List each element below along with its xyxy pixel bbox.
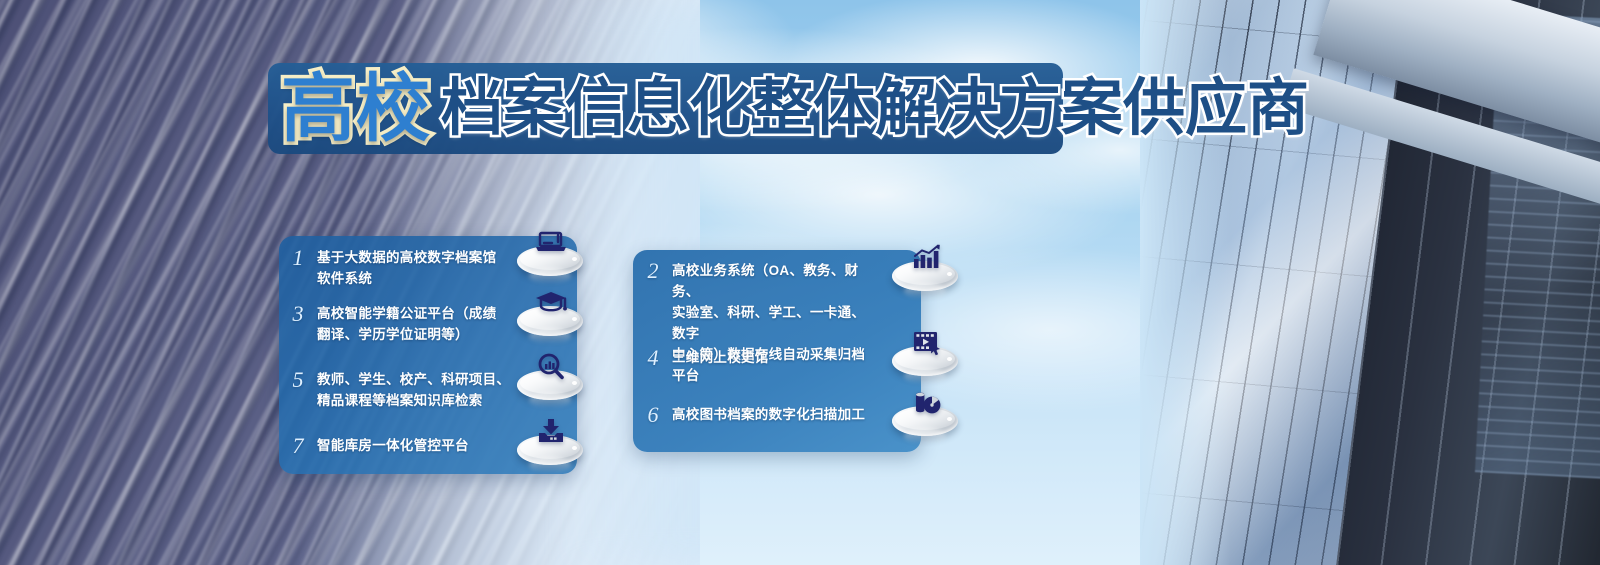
icon-plate-shine (572, 381, 577, 385)
item-label: 高校图书档案的数字化扫描加工 (672, 404, 865, 425)
icon-plate-reflection (904, 368, 946, 384)
film-play-cursor-glyph (909, 328, 943, 358)
video-play-click-icon[interactable] (892, 328, 958, 380)
icon-plate-shine (572, 317, 577, 321)
bar-chart-arrow-glyph (909, 243, 943, 273)
laptop-glyph (534, 228, 568, 258)
item-label: 三维网上校史馆 (672, 347, 769, 368)
scanner-copier-glyph (909, 388, 943, 418)
icon-plate-shine (572, 446, 577, 450)
item-number: 4 (645, 347, 661, 368)
item-number: 6 (645, 404, 661, 425)
item-label: 基于大数据的高校数字档案馆 软件系统 (317, 247, 496, 289)
title-rest: 档案信息化整体解决方案供应商 (441, 66, 1309, 152)
item-label: 教师、学生、校产、科研项目、 精品课程等档案知识库检索 (317, 369, 510, 411)
icon-plate-reflection (529, 328, 571, 344)
item-number: 7 (290, 435, 306, 456)
icon-plate-shine (947, 272, 952, 276)
item-label: 智能库房一体化管控平台 (317, 435, 469, 456)
icon-plate-reflection (529, 457, 571, 473)
item-label: 高校智能学籍公证平台（成绩 翻译、学历学位证明等） (317, 303, 496, 345)
list-item[interactable]: 1 基于大数据的高校数字档案馆 软件系统 (290, 247, 505, 289)
magnifier-bar-chart-glyph (534, 352, 568, 382)
icon-plate-shine (572, 257, 577, 261)
item-number: 1 (290, 247, 306, 268)
bar-chart-growth-icon[interactable] (892, 243, 958, 295)
icon-plate-reflection (904, 428, 946, 444)
list-item[interactable]: 6 高校图书档案的数字化扫描加工 (645, 404, 873, 425)
icon-plate-reflection (529, 392, 571, 408)
search-chart-icon[interactable] (517, 352, 583, 404)
icon-plate-reflection (529, 268, 571, 284)
scanner-icon[interactable] (892, 388, 958, 440)
graduation-cap-icon[interactable] (517, 288, 583, 340)
list-item[interactable]: 5 教师、学生、校产、科研项目、 精品课程等档案知识库检索 (290, 369, 512, 411)
item-number: 2 (645, 260, 661, 281)
item-number: 5 (290, 369, 306, 390)
title-highlight: 高校 (281, 66, 431, 152)
laptop-icon[interactable] (517, 228, 583, 280)
banner-stage: 高校 档案信息化整体解决方案供应商 1 基于大数据的高校数字档案馆 软件系统 3… (0, 0, 1600, 565)
page-title: 高校 档案信息化整体解决方案供应商 (281, 66, 1309, 152)
icon-plate-reflection (904, 283, 946, 299)
list-item[interactable]: 7 智能库房一体化管控平台 (290, 435, 505, 456)
item-number: 3 (290, 303, 306, 324)
download-tray-glyph (534, 417, 568, 447)
icon-plate-shine (947, 417, 952, 421)
list-item[interactable]: 4 三维网上校史馆 (645, 347, 865, 368)
list-item[interactable]: 3 高校智能学籍公证平台（成绩 翻译、学历学位证明等） (290, 303, 505, 345)
graduation-cap-glyph (534, 288, 568, 318)
icon-plate-shine (947, 357, 952, 361)
download-tray-icon[interactable] (517, 417, 583, 469)
